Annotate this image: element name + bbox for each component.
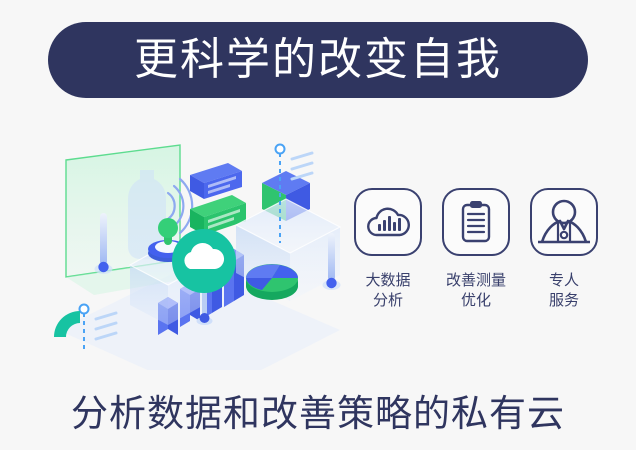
page-headline: 分析数据和改善策略的私有云 [0, 383, 636, 437]
feature-badge-dedicated-service [530, 188, 598, 256]
pie-chart-3d [246, 264, 298, 300]
blue-tag-label [190, 163, 242, 199]
feature-label-dedicated-service: 专人 服务 [549, 270, 579, 311]
cloud-bar-chart-icon [365, 202, 411, 242]
feature-badge-big-data-analysis [354, 188, 422, 256]
feature-big-data-analysis[interactable]: 大数据 分析 [352, 188, 424, 338]
banner-title: 更科学的改变自我 [134, 38, 502, 82]
poster-canvas: 更科学的改变自我 [0, 0, 636, 450]
clipboard-icon [456, 199, 496, 245]
title-banner: 更科学的改变自我 [48, 22, 588, 98]
feature-dedicated-service[interactable]: 专人 服务 [528, 188, 600, 338]
feature-list: 大数据 分析 改善测量 优化 [352, 188, 600, 338]
feature-label-big-data-analysis: 大数据 分析 [365, 270, 410, 311]
illustration [40, 125, 360, 370]
feature-badge-measurement-optimization [442, 188, 510, 256]
feature-measurement-optimization[interactable]: 改善测量 优化 [440, 188, 512, 338]
person-service-icon [536, 196, 592, 248]
feature-label-measurement-optimization: 改善测量 优化 [446, 270, 506, 311]
